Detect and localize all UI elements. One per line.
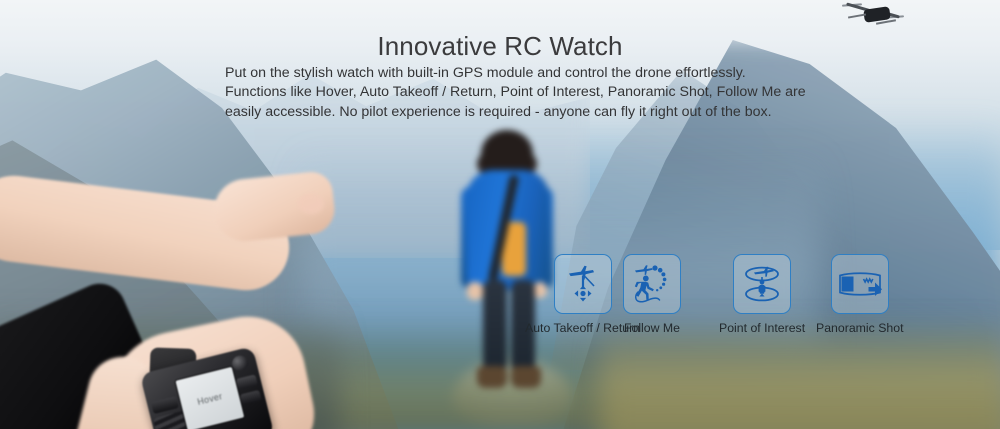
hero-description-line-3: easily accessible. No pilot experience i… [225, 103, 825, 122]
fingernail [298, 194, 324, 214]
feature-panoramic-shot[interactable]: Panoramic Shot [816, 254, 904, 335]
feature-point-of-interest[interactable]: Point of Interest [719, 254, 805, 335]
foreground-right [600, 319, 1000, 429]
hero-description: Put on the stylish watch with built-in G… [225, 64, 825, 122]
watch-screen-text: Hover [196, 391, 223, 407]
drone-icon [842, 2, 904, 28]
feature-follow-me[interactable]: Follow Me [623, 254, 681, 335]
feature-label: Panoramic Shot [816, 321, 904, 335]
plane-takeoff-return-icon [554, 254, 612, 314]
product-banner: Hover Innovative RC Watch Put on the sty… [0, 0, 1000, 429]
feature-list: Auto Takeoff / Return [548, 254, 968, 334]
page-title: Innovative RC Watch [0, 31, 1000, 62]
hero-description-line-2: Functions like Hover, Auto Takeoff / Ret… [225, 83, 825, 102]
hero-description-line-1: Put on the stylish watch with built-in G… [225, 64, 825, 83]
feature-label: Follow Me [623, 321, 681, 335]
follow-me-runner-icon [623, 254, 681, 314]
hands-wearing-watch: Hover [0, 150, 350, 429]
panorama-arrow-icon [831, 254, 889, 314]
orbit-point-of-interest-icon [733, 254, 791, 314]
feature-label: Point of Interest [719, 321, 805, 335]
